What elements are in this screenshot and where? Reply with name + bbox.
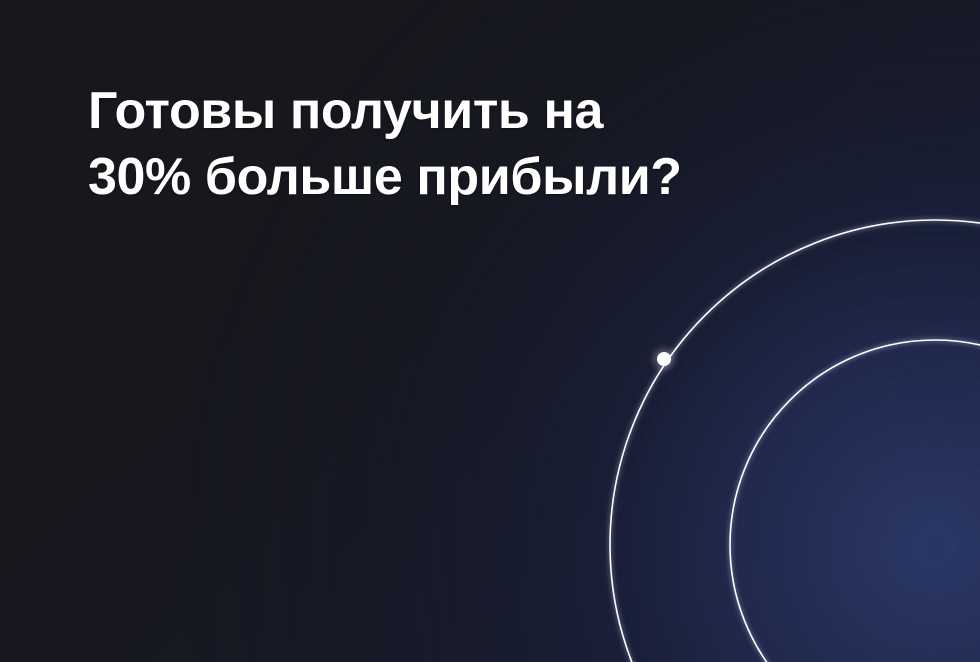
page-title: Готовы получить на 30% больше прибыли? [88, 78, 808, 210]
promo-banner: Готовы получить на 30% больше прибыли? [0, 0, 980, 662]
